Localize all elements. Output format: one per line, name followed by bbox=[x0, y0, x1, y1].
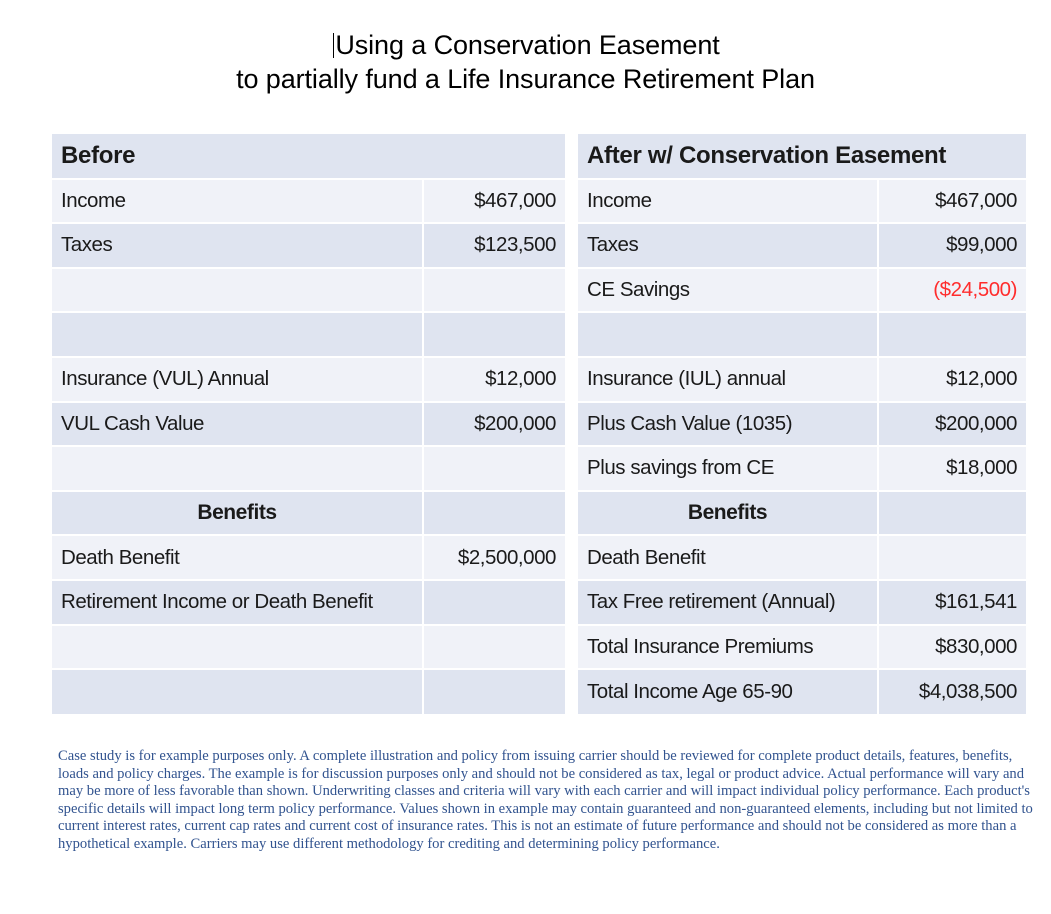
row-value bbox=[423, 491, 565, 536]
row-label bbox=[578, 312, 878, 357]
row-value bbox=[423, 669, 565, 714]
row-label: Insurance (VUL) Annual bbox=[52, 357, 423, 402]
after-table-body: After w/ Conservation Easement Income$46… bbox=[578, 134, 1026, 714]
page-title-line-2: to partially fund a Life Insurance Retir… bbox=[0, 62, 1051, 96]
table-row: Plus savings from CE$18,000 bbox=[578, 446, 1026, 491]
table-row: Insurance (IUL) annual$12,000 bbox=[578, 357, 1026, 402]
row-value bbox=[423, 446, 565, 491]
table-row bbox=[52, 669, 565, 714]
table-row: Retirement Income or Death Benefit bbox=[52, 580, 565, 625]
page-title-line-1: Using a Conservation Easement bbox=[0, 28, 1051, 62]
table-row: Taxes$123,500 bbox=[52, 223, 565, 268]
row-label: Death Benefit bbox=[578, 535, 878, 580]
table-row bbox=[52, 446, 565, 491]
section-header-label: Benefits bbox=[578, 491, 878, 536]
row-value: $99,000 bbox=[878, 223, 1026, 268]
row-value: $123,500 bbox=[423, 223, 565, 268]
row-value bbox=[423, 268, 565, 313]
row-label: Total Income Age 65-90 bbox=[578, 669, 878, 714]
row-value: $467,000 bbox=[423, 179, 565, 224]
row-value: $161,541 bbox=[878, 580, 1026, 625]
row-value: $200,000 bbox=[423, 402, 565, 447]
table-row: Income$467,000 bbox=[578, 179, 1026, 224]
row-label: Income bbox=[52, 179, 423, 224]
before-table-header-row: Before bbox=[52, 134, 565, 179]
page-title-line-1-text: Using a Conservation Easement bbox=[335, 30, 719, 60]
row-label: Plus Cash Value (1035) bbox=[578, 402, 878, 447]
row-value: ($24,500) bbox=[878, 268, 1026, 313]
section-header-label: Benefits bbox=[52, 491, 423, 536]
row-value bbox=[423, 312, 565, 357]
table-row: CE Savings($24,500) bbox=[578, 268, 1026, 313]
row-label: CE Savings bbox=[578, 268, 878, 313]
table-row: Total Income Age 65-90$4,038,500 bbox=[578, 669, 1026, 714]
table-row: Benefits bbox=[52, 491, 565, 536]
row-value: $4,038,500 bbox=[878, 669, 1026, 714]
table-row bbox=[578, 312, 1026, 357]
row-label bbox=[52, 312, 423, 357]
table-row: Total Insurance Premiums$830,000 bbox=[578, 625, 1026, 670]
row-label: Tax Free retirement (Annual) bbox=[578, 580, 878, 625]
row-label bbox=[52, 669, 423, 714]
row-value: $12,000 bbox=[878, 357, 1026, 402]
row-label bbox=[52, 625, 423, 670]
table-row bbox=[52, 268, 565, 313]
row-value: $18,000 bbox=[878, 446, 1026, 491]
table-row: Tax Free retirement (Annual)$161,541 bbox=[578, 580, 1026, 625]
table-row: Income$467,000 bbox=[52, 179, 565, 224]
table-row: VUL Cash Value$200,000 bbox=[52, 402, 565, 447]
row-label: Insurance (IUL) annual bbox=[578, 357, 878, 402]
table-row bbox=[52, 312, 565, 357]
before-table-body: Before Income$467,000Taxes$123,500Insura… bbox=[52, 134, 565, 714]
table-row: Death Benefit bbox=[578, 535, 1026, 580]
row-label: Taxes bbox=[578, 223, 878, 268]
before-table-header-label: Before bbox=[52, 134, 565, 179]
row-value: $830,000 bbox=[878, 625, 1026, 670]
table-row: Insurance (VUL) Annual$12,000 bbox=[52, 357, 565, 402]
row-value: $12,000 bbox=[423, 357, 565, 402]
table-row: Taxes$99,000 bbox=[578, 223, 1026, 268]
after-table-header-row: After w/ Conservation Easement bbox=[578, 134, 1026, 179]
disclaimer-text: Case study is for example purposes only.… bbox=[58, 748, 1033, 854]
table-row: Benefits bbox=[578, 491, 1026, 536]
row-label: Taxes bbox=[52, 223, 423, 268]
row-label: VUL Cash Value bbox=[52, 402, 423, 447]
table-row: Plus Cash Value (1035)$200,000 bbox=[578, 402, 1026, 447]
table-row bbox=[52, 625, 565, 670]
row-value bbox=[878, 491, 1026, 536]
row-value bbox=[423, 625, 565, 670]
after-table: After w/ Conservation Easement Income$46… bbox=[578, 134, 1026, 714]
table-row: Death Benefit$2,500,000 bbox=[52, 535, 565, 580]
row-value: $200,000 bbox=[878, 402, 1026, 447]
row-label: Death Benefit bbox=[52, 535, 423, 580]
row-label bbox=[52, 446, 423, 491]
row-label: Income bbox=[578, 179, 878, 224]
row-value bbox=[423, 580, 565, 625]
row-value bbox=[878, 312, 1026, 357]
row-label: Total Insurance Premiums bbox=[578, 625, 878, 670]
page-title: Using a Conservation Easement to partial… bbox=[0, 28, 1051, 96]
after-table-header-label: After w/ Conservation Easement bbox=[578, 134, 1026, 179]
before-table: Before Income$467,000Taxes$123,500Insura… bbox=[52, 134, 565, 714]
row-value: $2,500,000 bbox=[423, 535, 565, 580]
row-label bbox=[52, 268, 423, 313]
row-label: Plus savings from CE bbox=[578, 446, 878, 491]
row-value bbox=[878, 535, 1026, 580]
row-value: $467,000 bbox=[878, 179, 1026, 224]
row-label: Retirement Income or Death Benefit bbox=[52, 580, 423, 625]
